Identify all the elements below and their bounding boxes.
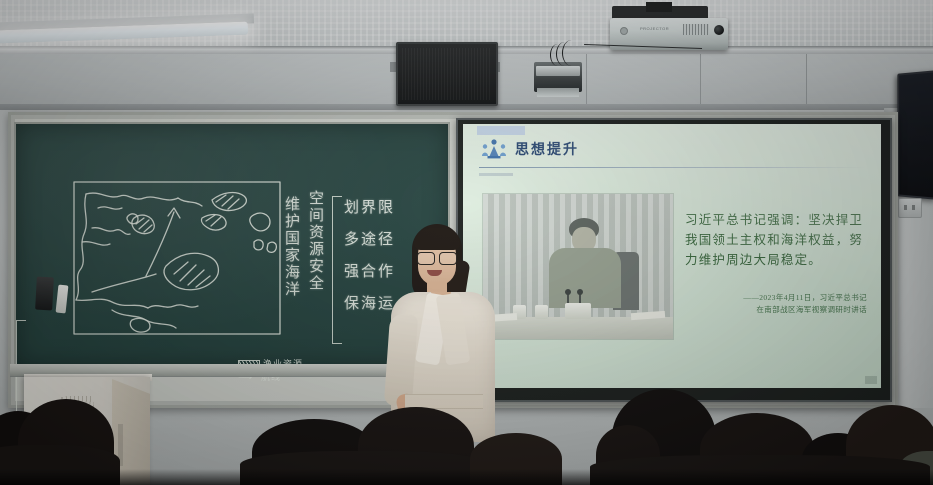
slide-corner-mark	[865, 376, 877, 384]
lens-right	[439, 252, 457, 265]
slide-title: 思想提升	[515, 139, 579, 159]
chalkboard-item: 划界限	[344, 196, 395, 217]
slide-photo	[483, 194, 673, 339]
wall-speaker-left	[396, 42, 498, 106]
board-eraser[interactable]	[35, 277, 54, 311]
slide-divider	[479, 167, 865, 168]
projector-knob	[620, 27, 628, 35]
slide-sub-accent	[479, 173, 513, 176]
presentation-slide[interactable]: 思想提升 习近平总书记强调：坚决捍卫我国领土主权和海洋权益，努力维护周边大局稳定…	[463, 124, 881, 388]
chalkboard-text-column-a: 维护国家海洋	[284, 196, 299, 298]
attribution-line-2: 在南部战区海军视察调研时讲话	[701, 304, 867, 316]
slide-quote-text: 习近平总书记强调：坚决捍卫我国领土主权和海洋权益，努力维护周边大局稳定。	[685, 210, 865, 270]
camera-unit-plate	[536, 66, 580, 76]
photo-teacup	[535, 305, 548, 319]
photo-nameplate	[565, 303, 591, 319]
photo-subject-body	[549, 248, 621, 308]
wall-speaker-right	[897, 70, 933, 200]
slide-top-accent-bar	[477, 126, 525, 135]
chalkboard-brace	[332, 196, 342, 344]
projector-mount-arm	[646, 2, 672, 12]
people-podium-icon	[481, 138, 507, 160]
slide-header: 思想提升	[481, 138, 579, 160]
projector-vent-icon	[683, 24, 709, 35]
camera-unit-base	[537, 88, 579, 97]
projector-brand-label: PROJECTOR	[640, 26, 669, 31]
power-outlet[interactable]	[898, 198, 922, 218]
chalkboard-text-column-b: 空间资源安全	[308, 190, 323, 292]
cable	[562, 40, 581, 66]
attribution-line-1: ——2023年4月11日，习近平总书记	[701, 292, 867, 304]
eyeglasses-icon	[417, 252, 457, 263]
foreground-shadow	[0, 469, 933, 485]
projector-lens-icon	[714, 25, 724, 35]
lens-left	[417, 252, 435, 265]
slide-attribution: ——2023年4月11日，习近平总书记 在南部战区海军视察调研时讲话	[701, 292, 867, 316]
classroom-photo-scene: PROJECTOR	[0, 0, 933, 485]
lecturer-fringe	[414, 228, 460, 250]
